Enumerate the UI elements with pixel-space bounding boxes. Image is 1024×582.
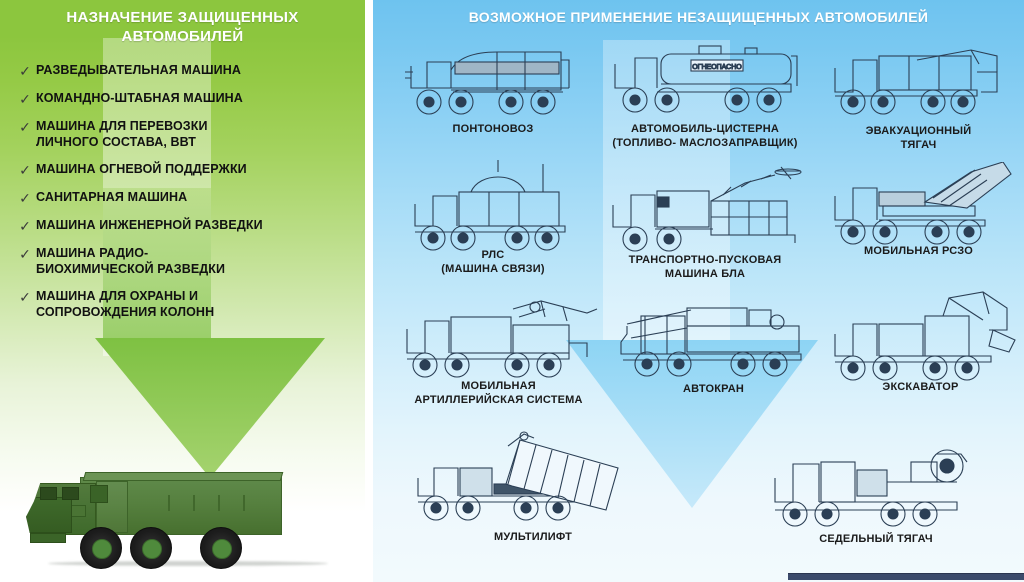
check-icon: ✓ [14, 217, 36, 234]
list-item[interactable]: ✓ КОМАНДНО-ШТАБНАЯ МАШИНА [14, 90, 359, 107]
uav-launcher-truck-icon [595, 165, 815, 257]
check-icon: ✓ [14, 62, 36, 79]
bottom-divider-bar [788, 573, 1024, 580]
vehicle-card-uav-launcher[interactable]: ТРАНСПОРТНО-ПУСКОВАЯ МАШИНА БЛА [595, 165, 815, 283]
check-icon: ✓ [14, 245, 36, 262]
vehicle-label: АВТОКРАН [611, 382, 816, 396]
left-panel: НАЗНАЧЕНИЕ ЗАЩИЩЕННЫХ АВТОМОБИЛЕЙ ✓ РАЗВ… [0, 0, 365, 582]
tanker-decal-text: ОГНЕОПАСНО [692, 64, 742, 71]
vehicle-label: ЭКСКАВАТОР [823, 380, 1018, 394]
mobile-artillery-truck-icon [391, 295, 606, 383]
armored-vehicle-photo [18, 455, 348, 575]
list-item-label: МАШИНА ОГНЕВОЙ ПОДДЕРЖКИ [36, 161, 247, 177]
vehicle-card-mobile-crane[interactable]: АВТОКРАН [611, 298, 816, 416]
vehicle-label: МОБИЛЬНАЯ РСЗО [821, 244, 1016, 258]
vehicle-card-semi-tractor[interactable]: СЕДЕЛЬНЫЙ ТЯГАЧ [761, 440, 991, 560]
vehicle-card-radar-comms[interactable]: РЛС (МАШИНА СВЯЗИ) [393, 160, 593, 278]
radar-comms-truck-icon [393, 160, 593, 260]
list-item[interactable]: ✓ МАШИНА ДЛЯ ПЕРЕВОЗКИ ЛИЧНОГО СОСТАВА, … [14, 118, 359, 150]
mlrs-truck-icon [821, 162, 1016, 252]
vehicle-label: ТРАНСПОРТНО-ПУСКОВАЯ МАШИНА БЛА [595, 253, 815, 281]
vehicle-card-mlrs[interactable]: МОБИЛЬНАЯ РСЗО [821, 162, 1016, 277]
list-item[interactable]: ✓ МАШИНА РАДИО- БИОХИМИЧЕСКОЙ РАЗВЕДКИ [14, 245, 359, 277]
list-item-label: КОМАНДНО-ШТАБНАЯ МАШИНА [36, 90, 243, 106]
hooklift-truck-icon [408, 428, 658, 528]
check-icon: ✓ [14, 90, 36, 107]
vehicle-card-pontoon-carrier[interactable]: ПОНТОНОВОЗ [393, 42, 593, 152]
left-panel-title: НАЗНАЧЕНИЕ ЗАЩИЩЕННЫХ АВТОМОБИЛЕЙ [10, 8, 355, 46]
vehicle-card-recovery-tractor[interactable]: ЭВАКУАЦИОННЫЙ ТЯГАЧ [821, 42, 1016, 157]
list-item-label: МАШИНА ДЛЯ ПЕРЕВОЗКИ ЛИЧНОГО СОСТАВА, ВВ… [36, 118, 208, 150]
vehicle-card-excavator[interactable]: ЭКСКАВАТОР [823, 290, 1018, 410]
tanker-truck-icon: ОГНЕОПАСНО [595, 38, 815, 120]
vehicle-label: МОБИЛЬНАЯ АРТИЛЛЕРИЙСКАЯ СИСТЕМА [391, 379, 606, 407]
vehicle-label: СЕДЕЛЬНЫЙ ТЯГАЧ [761, 532, 991, 546]
vehicle-label: АВТОМОБИЛЬ-ЦИСТЕРНА (ТОПЛИВО- МАСЛОЗАПРА… [595, 122, 815, 150]
vehicle-label: ЭВАКУАЦИОННЫЙ ТЯГАЧ [821, 124, 1016, 152]
right-panel: ВОЗМОЖНОЕ ПРИМЕНЕНИЕ НЕЗАЩИЩЕННЫХ АВТОМО… [373, 0, 1024, 582]
pontoon-carrier-truck-icon [393, 42, 593, 122]
list-item-label: РАЗВЕДЫВАТЕЛЬНАЯ МАШИНА [36, 62, 241, 78]
list-item-label: МАШИНА ИНЖЕНЕРНОЙ РАЗВЕДКИ [36, 217, 263, 233]
excavator-truck-icon [823, 290, 1018, 386]
slide-root: НАЗНАЧЕНИЕ ЗАЩИЩЕННЫХ АВТОМОБИЛЕЙ ✓ РАЗВ… [0, 0, 1024, 582]
check-icon: ✓ [14, 161, 36, 178]
protected-vehicles-list: ✓ РАЗВЕДЫВАТЕЛЬНАЯ МАШИНА ✓ КОМАНДНО-ШТА… [14, 62, 359, 331]
list-item[interactable]: ✓ МАШИНА ИНЖЕНЕРНОЙ РАЗВЕДКИ [14, 217, 359, 234]
list-item[interactable]: ✓ САНИТАРНАЯ МАШИНА [14, 189, 359, 206]
check-icon: ✓ [14, 288, 36, 305]
mobile-crane-truck-icon [611, 298, 816, 384]
vehicle-label: МУЛЬТИЛИФТ [408, 530, 658, 544]
recovery-tractor-truck-icon [821, 42, 1016, 122]
list-item[interactable]: ✓ РАЗВЕДЫВАТЕЛЬНАЯ МАШИНА [14, 62, 359, 79]
list-item[interactable]: ✓ МАШИНА ДЛЯ ОХРАНЫ И СОПРОВОЖДЕНИЯ КОЛО… [14, 288, 359, 320]
vehicle-card-mobile-artillery[interactable]: МОБИЛЬНАЯ АРТИЛЛЕРИЙСКАЯ СИСТЕМА [391, 295, 606, 413]
list-item-label: МАШИНА ДЛЯ ОХРАНЫ И СОПРОВОЖДЕНИЯ КОЛОНН [36, 288, 214, 320]
list-item[interactable]: ✓ МАШИНА ОГНЕВОЙ ПОДДЕРЖКИ [14, 161, 359, 178]
vehicle-label: ПОНТОНОВОЗ [393, 122, 593, 136]
vehicle-card-tanker[interactable]: ОГНЕОПАСНО АВТОМОБИЛЬ-ЦИСТЕРНА (ТОПЛИВО-… [595, 38, 815, 156]
right-panel-title: ВОЗМОЖНОЕ ПРИМЕНЕНИЕ НЕЗАЩИЩЕННЫХ АВТОМО… [373, 9, 1024, 25]
vehicle-label: РЛС (МАШИНА СВЯЗИ) [393, 248, 593, 276]
vehicle-card-hooklift[interactable]: МУЛЬТИЛИФТ [408, 428, 658, 548]
check-icon: ✓ [14, 118, 36, 135]
check-icon: ✓ [14, 189, 36, 206]
list-item-label: САНИТАРНАЯ МАШИНА [36, 189, 187, 205]
semi-tractor-truck-icon [761, 440, 991, 530]
list-item-label: МАШИНА РАДИО- БИОХИМИЧЕСКОЙ РАЗВЕДКИ [36, 245, 225, 277]
